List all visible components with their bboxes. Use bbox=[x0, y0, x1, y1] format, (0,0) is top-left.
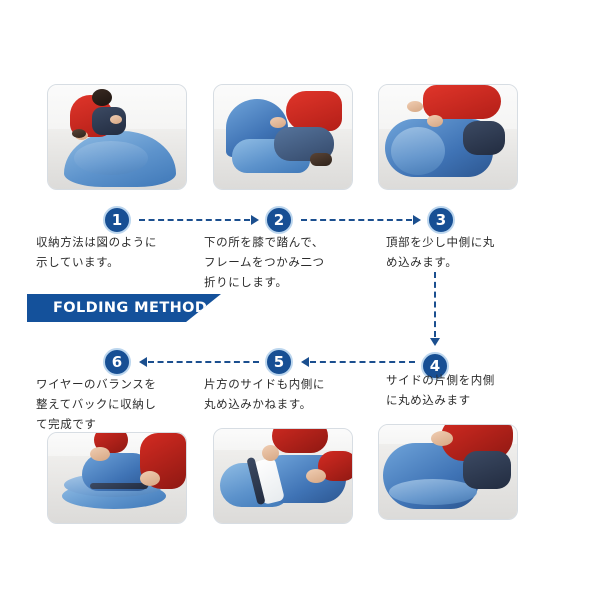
arrow-head-right-icon bbox=[251, 215, 259, 225]
arrow-line bbox=[148, 361, 259, 363]
photo-5-hand-right bbox=[306, 469, 326, 483]
arrow-head-left-icon bbox=[139, 357, 147, 367]
step-caption-6: ワイヤーのバランスを 整えてバックに収納し て完成です bbox=[36, 374, 202, 434]
step-caption-4: サイドの片側を内側 に丸め込みます bbox=[386, 370, 546, 410]
photo-2-hand bbox=[270, 117, 286, 128]
folding-method-banner: FOLDING METHOD bbox=[27, 294, 221, 322]
arrow-line bbox=[139, 219, 250, 221]
arrow-step3-to-step4 bbox=[430, 272, 440, 346]
photo-6-hand-right bbox=[140, 471, 160, 486]
step-badge-1-number: 1 bbox=[112, 211, 122, 229]
photo-3-tent-ring bbox=[391, 127, 445, 175]
photo-6-hand-left bbox=[90, 447, 110, 461]
step-caption-2: 下の所を膝で踏んで、 フレームをつかみ二つ 折りにします。 bbox=[204, 232, 370, 292]
photo-2-shoe bbox=[310, 153, 332, 166]
photo-2-jacket bbox=[286, 91, 342, 131]
photo-5-hand-top bbox=[262, 445, 279, 461]
step-badge-5-number: 5 bbox=[274, 353, 284, 371]
photo-3-trousers bbox=[463, 121, 505, 155]
step-badge-5: 5 bbox=[265, 348, 293, 376]
photo-5-sleeve-top bbox=[272, 429, 328, 453]
step-badge-6-number: 6 bbox=[112, 353, 122, 371]
photo-4-trousers bbox=[463, 451, 511, 489]
step-photo-1 bbox=[47, 84, 187, 190]
step-badge-2: 2 bbox=[265, 206, 293, 234]
folding-method-label: FOLDING METHOD bbox=[53, 300, 207, 316]
photo-3-content bbox=[379, 85, 517, 189]
photo-1-tent-highlight bbox=[74, 141, 148, 175]
step-badge-3: 3 bbox=[427, 206, 455, 234]
arrow-step2-to-step3 bbox=[301, 215, 421, 225]
photo-1-shoe bbox=[72, 129, 86, 138]
photo-4-content bbox=[379, 425, 517, 519]
photo-2-content bbox=[214, 85, 352, 189]
photo-1-content bbox=[48, 85, 186, 189]
photo-1-hand-right bbox=[110, 115, 122, 124]
arrow-line bbox=[434, 272, 436, 337]
arrow-step5-to-step6 bbox=[139, 357, 259, 367]
photo-3-hand-right bbox=[427, 115, 443, 127]
photo-3-jacket bbox=[423, 85, 501, 119]
photo-3-hand-left bbox=[407, 101, 423, 112]
step-badge-1: 1 bbox=[103, 206, 131, 234]
step-photo-2 bbox=[213, 84, 353, 190]
arrow-head-down-icon bbox=[430, 338, 440, 346]
step-caption-1: 収納方法は図のように 示しています。 bbox=[36, 232, 196, 272]
step-caption-3: 頂部を少し中側に丸 め込みます。 bbox=[386, 232, 546, 272]
arrow-head-right-icon bbox=[413, 215, 421, 225]
step-photo-6 bbox=[47, 432, 187, 524]
arrow-head-left-icon bbox=[301, 357, 309, 367]
arrow-step4-to-step5 bbox=[301, 357, 415, 367]
photo-1-head bbox=[92, 89, 112, 106]
step-badge-3-number: 3 bbox=[436, 211, 446, 229]
photo-5-content bbox=[214, 429, 352, 523]
photo-4-hand bbox=[431, 431, 453, 446]
arrow-line bbox=[310, 361, 415, 363]
step-photo-4 bbox=[378, 424, 518, 520]
step-photo-3 bbox=[378, 84, 518, 190]
step-badge-6: 6 bbox=[103, 348, 131, 376]
step-badge-2-number: 2 bbox=[274, 211, 284, 229]
folding-instruction-diagram: 1 2 3 収納方法は図のように 示しています。 下の所を膝で踏んで、 フレーム… bbox=[0, 0, 600, 600]
step-photo-5 bbox=[213, 428, 353, 524]
arrow-step1-to-step2 bbox=[139, 215, 259, 225]
arrow-line bbox=[301, 219, 412, 221]
photo-4-tent-rim bbox=[389, 479, 477, 505]
photo-6-wire-edge bbox=[90, 483, 148, 489]
step-caption-5: 片方のサイドも内側に 丸め込みかねます。 bbox=[204, 374, 370, 414]
photo-6-content bbox=[48, 433, 186, 523]
